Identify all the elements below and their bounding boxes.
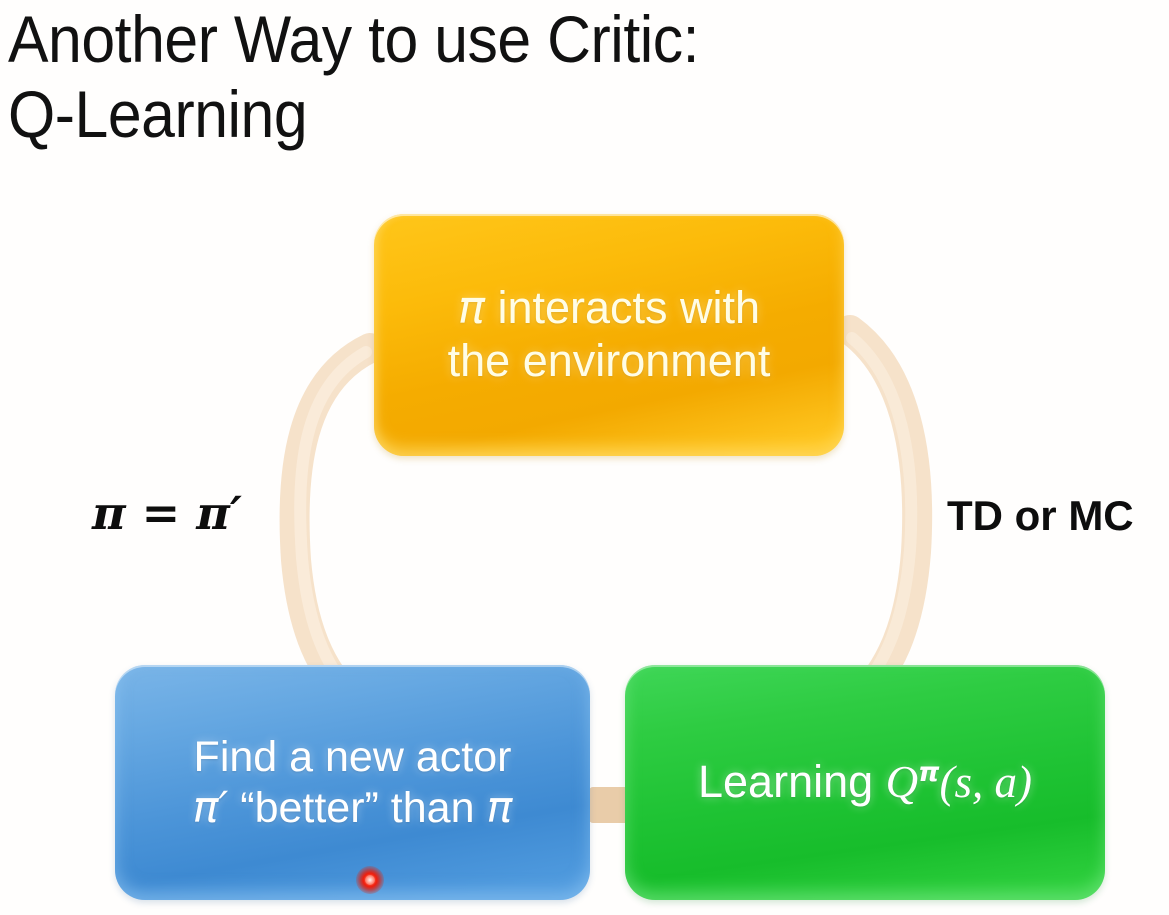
- pi-prime-symbol: π′: [193, 783, 229, 833]
- node-environment-line2: the environment: [448, 335, 771, 386]
- pi-symbol: π: [458, 281, 485, 334]
- q-symbol: Q: [886, 757, 919, 807]
- node-learning-q-label: Learning Qπ(s, a): [698, 756, 1032, 809]
- cycle-diagram: π interacts with the environment Find a …: [0, 0, 1169, 915]
- edge-label-td-or-mc: TD or MC: [947, 492, 1134, 540]
- q-superscript-pi: π: [918, 757, 939, 788]
- q-arguments: (s, a): [940, 757, 1032, 807]
- node-learning-q-prefix: Learning: [698, 756, 886, 807]
- node-new-actor-label: Find a new actor π′ “better” than π: [193, 732, 513, 833]
- connector-stub: [589, 787, 629, 823]
- node-new-actor-box[interactable]: Find a new actor π′ “better” than π: [115, 665, 590, 900]
- arc-left-highlight-icon: [300, 352, 366, 694]
- pi-symbol-2: π: [486, 783, 512, 833]
- node-new-actor-line1: Find a new actor: [194, 733, 512, 781]
- arc-right-highlight-icon: [852, 338, 911, 694]
- node-new-actor-line2-middle: “better” than: [228, 784, 486, 832]
- arc-left-icon: [295, 348, 370, 700]
- arc-right-icon: [850, 330, 917, 700]
- node-environment-label: π interacts with the environment: [448, 282, 771, 387]
- node-environment-line1-rest: interacts with: [485, 282, 760, 333]
- edge-label-pi-equals-pi-prime: π = π′: [92, 486, 242, 540]
- node-environment-box[interactable]: π interacts with the environment: [374, 214, 844, 456]
- node-learning-q-box[interactable]: Learning Qπ(s, a): [625, 665, 1105, 900]
